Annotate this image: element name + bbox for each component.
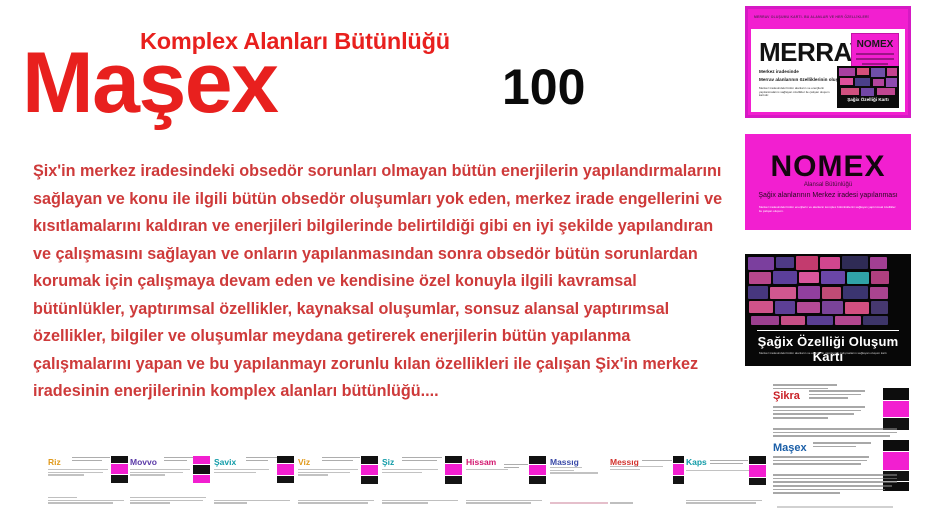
mini-card-body-rules <box>550 467 610 475</box>
mini-card-chips <box>529 456 546 484</box>
doc-rules-baseline <box>777 506 893 510</box>
mini-card-riz[interactable]: Riz <box>46 454 130 506</box>
mini-card-brand: Şiz <box>382 457 394 467</box>
chip-rule <box>856 58 894 60</box>
nomex-wordmark: NOMEX <box>745 150 911 184</box>
chip-rule <box>862 63 888 65</box>
sagix-paragraph: Merkez iradesindeki bütün alanların ve e… <box>759 352 897 362</box>
mini-card-chips <box>111 456 128 483</box>
mini-card-brand: Movvo <box>130 457 157 467</box>
doc-title-rules <box>809 390 865 401</box>
sagix-divider <box>757 330 899 331</box>
merrav-collage-image: Şağix Özelliği Kartı <box>837 66 899 108</box>
mini-card-foot-rules <box>686 500 762 505</box>
body-paragraph: Şix'in merkez iradesindeki obsedör sorun… <box>33 158 723 406</box>
mini-card-body-rules <box>130 469 190 477</box>
sikra-wordmark: Şikra <box>773 390 800 402</box>
mini-card-chips <box>193 456 210 483</box>
thumbnail-merrav-card[interactable]: MERRAV OLUŞUMU KARTI. BU ALANLAR VE HER … <box>745 6 911 118</box>
merrav-nomex-chip: NOMEX <box>851 33 899 69</box>
mini-card-kaps[interactable]: Kaps <box>684 454 768 506</box>
main-content-column: Komplex Alanları Bütünlüğü Maşex 100 Şix… <box>0 0 752 440</box>
mini-card-foot-rules <box>130 497 206 505</box>
doc-body-rules-bottom <box>773 456 869 467</box>
mini-card-head-rules <box>164 457 194 463</box>
mini-card-body-rules <box>214 469 274 474</box>
mini-card-brand: Hissam <box>466 457 496 467</box>
mini-card-movvo[interactable]: Movvo <box>128 454 212 506</box>
mini-card-head-rules <box>642 460 672 463</box>
mini-card-head-rules <box>72 457 110 463</box>
mini-card-brand: Riz <box>48 457 61 467</box>
mini-card-chips <box>277 456 294 483</box>
nomex-subtitle-2: Şağix alanlarının Merkez iradesi yapılan… <box>745 192 911 199</box>
mini-card-foot-rules <box>466 500 542 505</box>
thumbnail-nomex-card[interactable]: NOMEX Alansal Bütünlüğü Şağix alanlarını… <box>745 134 911 230</box>
doc-subtitle-rules <box>813 442 871 449</box>
merrav-collage-label: Şağix Özelliği Kartı <box>837 97 899 102</box>
mini-card-body-rules <box>466 469 526 472</box>
thumbnail-sidebar: MERRAV OLUŞUMU KARTI. BU ALANLAR VE HER … <box>745 0 917 527</box>
mini-card-savix[interactable]: Şavix <box>212 454 296 506</box>
merrav-card-body: MERRAV Merkez iradesinde Merrav alanları… <box>751 29 905 112</box>
nomex-subtitle-1: Alansal Bütünlüğü <box>745 182 911 188</box>
masex-wordmark: Maşex <box>773 442 807 454</box>
doc-rules-mid <box>773 428 897 439</box>
mini-card-chips <box>361 456 378 484</box>
mini-card-head-rules <box>322 457 360 463</box>
doc-chip-column-top <box>883 388 909 431</box>
mini-card-foot-rules <box>298 500 374 505</box>
merrav-subtitle-1: Merkez iradesinde <box>759 69 799 74</box>
mini-card-foot-rules <box>382 500 458 505</box>
mini-card-messig[interactable]: Messıg <box>608 454 692 506</box>
mini-card-brand: Kaps <box>686 457 707 467</box>
doc-body-rules-top <box>773 406 865 421</box>
poster-canvas: Komplex Alanları Bütünlüğü Maşex 100 Şix… <box>0 0 925 527</box>
mini-card-siz[interactable]: Şiz <box>380 454 464 506</box>
mini-card-brand: Viz <box>298 457 310 467</box>
score-number: 100 <box>502 58 585 116</box>
merrav-subtitle-2: Merrav alanlarının özelliklerinin oluşum… <box>759 77 848 82</box>
merrav-chip-wordmark: NOMEX <box>852 39 898 50</box>
mini-card-body-rules <box>610 466 670 471</box>
mini-card-body-rules <box>298 469 358 477</box>
mini-card-head-rules <box>246 457 278 463</box>
sagix-collage-image <box>745 254 911 328</box>
mini-card-foot-rules <box>48 497 124 505</box>
thumbnail-sagix-card[interactable]: Şağix Özelliği Oluşum Kartı Merkez irade… <box>745 254 911 366</box>
mini-card-body-rules <box>48 469 108 477</box>
headline-block: Komplex Alanları Bütünlüğü Maşex <box>22 28 492 138</box>
mini-card-hissam[interactable]: Hissam <box>464 454 548 506</box>
mini-card-foot-rules <box>610 502 686 505</box>
mini-card-viz[interactable]: Viz <box>296 454 380 506</box>
merrav-paragraph: Merkez iradesindeki bütün alanların ve e… <box>759 87 837 118</box>
merrav-banner-text: MERRAV OLUŞUMU KARTI. BU ALANLAR VE HER … <box>751 12 905 29</box>
chip-rule <box>856 53 894 55</box>
mini-card-brand: Şavix <box>214 457 236 467</box>
mini-card-brand: Massıg <box>550 457 579 467</box>
page-title: Maşex <box>22 40 277 126</box>
mini-card-head-rules <box>710 460 748 466</box>
doc-rules-footer <box>773 474 897 496</box>
mini-card-head-rules <box>402 457 442 463</box>
nomex-paragraph: Merkez iradesindeki bütün enerjilerin ve… <box>759 206 897 226</box>
mini-card-foot-rules <box>214 500 290 505</box>
mini-card-body-rules <box>686 470 756 473</box>
bottom-thumbnail-strip: Riz Movvo Şavix Viz <box>0 448 752 527</box>
mini-card-body-rules <box>382 469 442 474</box>
thumbnail-sikra-document[interactable]: Şikra Maşex <box>767 382 911 520</box>
mini-card-chips <box>445 456 462 484</box>
mini-card-chips <box>749 456 766 485</box>
